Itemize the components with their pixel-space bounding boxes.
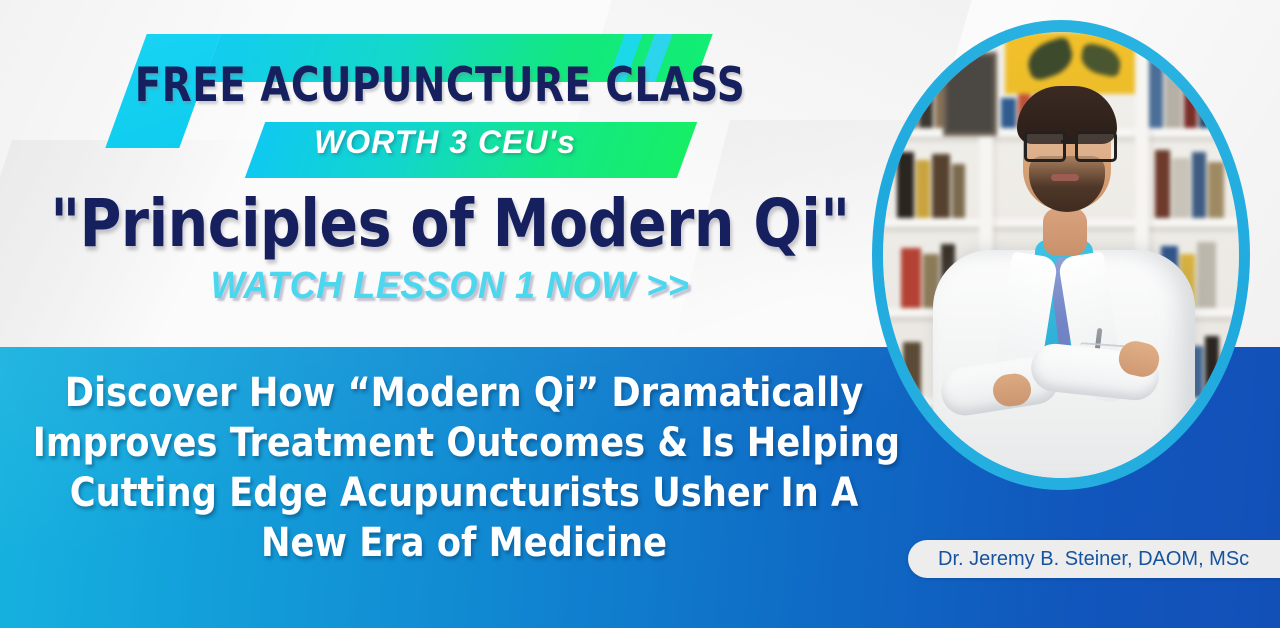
page-title: "Principles of Modern Qi" bbox=[18, 185, 882, 262]
photo-clip bbox=[883, 32, 1239, 478]
subheadline-line-2: Improves Treatment Outcomes & Is Helping bbox=[33, 418, 895, 468]
doctor-figure bbox=[883, 32, 1239, 478]
presenter-photo bbox=[872, 20, 1250, 490]
subheadline-line-3: Cutting Edge Acupuncturists Usher In A bbox=[33, 468, 895, 518]
promo-banner: FREE ACUPUNCTURE CLASS WORTH 3 CEU's "Pr… bbox=[0, 0, 1280, 628]
eyeglasses-icon bbox=[1023, 131, 1113, 157]
presenter-name-label: Dr. Jeremy B. Steiner, DAOM, MSc bbox=[908, 548, 1249, 571]
glasses-bridge bbox=[1061, 140, 1076, 143]
ceu-badge-label: WORTH 3 CEU's bbox=[0, 124, 890, 161]
glasses-lens-left bbox=[1024, 131, 1066, 162]
glasses-lens-right bbox=[1075, 131, 1117, 162]
presenter-name-badge: Dr. Jeremy B. Steiner, DAOM, MSc bbox=[908, 540, 1280, 578]
eyebrow-heading: FREE ACUPUNCTURE CLASS bbox=[35, 58, 845, 113]
subheadline-line-1: Discover How “Modern Qi” Dramatically bbox=[33, 368, 895, 418]
neck bbox=[1043, 208, 1087, 256]
mouth bbox=[1051, 174, 1079, 181]
subheadline: Discover How “Modern Qi” Dramatically Im… bbox=[33, 368, 895, 568]
watch-lesson-cta[interactable]: WATCH LESSON 1 NOW >> bbox=[23, 265, 878, 308]
subheadline-line-4: New Era of Medicine bbox=[33, 518, 895, 568]
